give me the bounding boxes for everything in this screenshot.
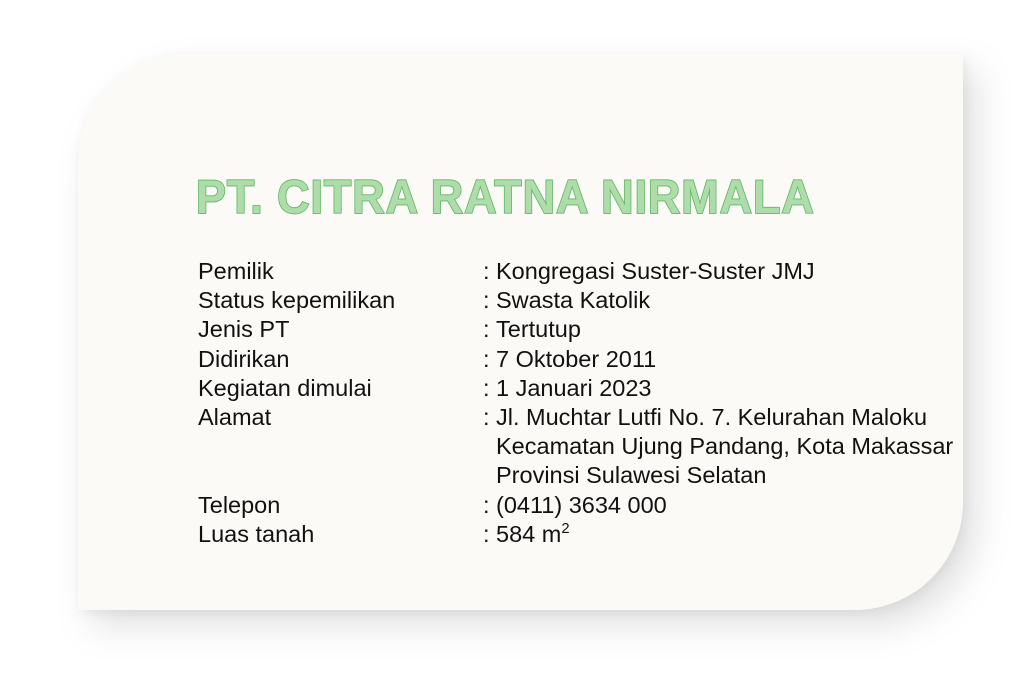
detail-row-kegiatan-dimulai: Kegiatan dimulai : 1 Januari 2023 [198, 374, 998, 403]
detail-value: Swasta Katolik [496, 286, 998, 315]
detail-separator: : [483, 374, 496, 403]
detail-label: Kegiatan dimulai [198, 374, 483, 403]
detail-label: Luas tanah [198, 520, 483, 549]
detail-row-status-kepemilikan: Status kepemilikan : Swasta Katolik [198, 286, 998, 315]
detail-separator: : [483, 403, 496, 432]
detail-value: 1 Januari 2023 [496, 374, 998, 403]
detail-value: Jl. Muchtar Lutfi No. 7. Kelurahan Malok… [496, 403, 998, 432]
page-canvas: PT. CITRA RATNA NIRMALA Pemilik : Kongre… [0, 0, 1024, 674]
superscript-two: 2 [561, 521, 569, 537]
detail-label: Pemilik [198, 257, 483, 286]
page-title: PT. CITRA RATNA NIRMALA [196, 172, 815, 222]
detail-separator: : [483, 520, 496, 549]
detail-row-pemilik: Pemilik : Kongregasi Suster-Suster JMJ [198, 257, 998, 286]
company-info-card: PT. CITRA RATNA NIRMALA Pemilik : Kongre… [78, 54, 963, 610]
detail-separator: : [483, 315, 496, 344]
detail-separator: : [483, 345, 496, 374]
detail-value-line-3: Provinsi Sulawesi Selatan [496, 461, 998, 490]
detail-label: Status kepemilikan [198, 286, 483, 315]
detail-row-jenis-pt: Jenis PT : Tertutup [198, 315, 998, 344]
detail-value: 7 Oktober 2011 [496, 345, 998, 374]
detail-row-telepon: Telepon : (0411) 3634 000 [198, 491, 998, 520]
detail-label: Didirikan [198, 345, 483, 374]
detail-separator: : [483, 286, 496, 315]
detail-value: Kongregasi Suster-Suster JMJ [496, 257, 998, 286]
detail-separator: : [483, 491, 496, 520]
detail-value-line-2: Kecamatan Ujung Pandang, Kota Makassar [496, 432, 998, 461]
detail-value: Tertutup [496, 315, 998, 344]
detail-value: (0411) 3634 000 [496, 491, 998, 520]
detail-row-alamat: Alamat : Jl. Muchtar Lutfi No. 7. Kelura… [198, 403, 998, 432]
detail-label: Alamat [198, 403, 483, 432]
company-details-list: Pemilik : Kongregasi Suster-Suster JMJ S… [198, 257, 998, 549]
detail-row-didirikan: Didirikan : 7 Oktober 2011 [198, 345, 998, 374]
detail-separator: : [483, 257, 496, 286]
detail-value-number: 584 m [496, 521, 561, 547]
detail-value: 584 m2 [496, 520, 998, 549]
detail-label: Telepon [198, 491, 483, 520]
detail-row-luas-tanah: Luas tanah : 584 m2 [198, 520, 998, 549]
detail-label: Jenis PT [198, 315, 483, 344]
